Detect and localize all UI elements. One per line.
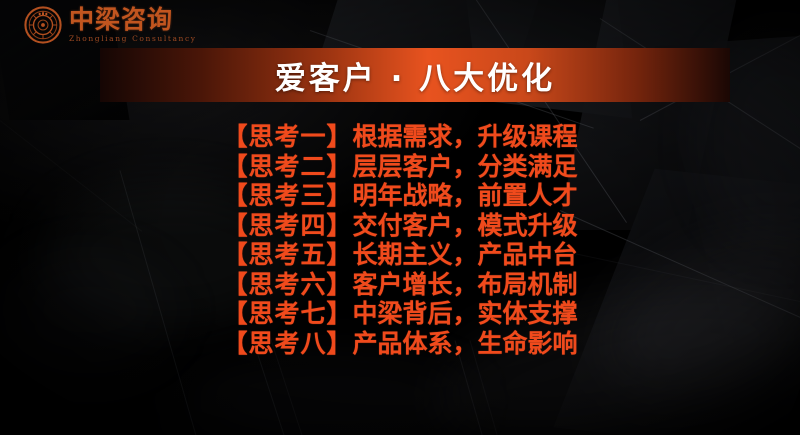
- list-item-body: 客户增长，布局机制: [353, 272, 578, 297]
- list-item-tag: 【思考一】: [222, 124, 352, 149]
- list-item-body: 交付客户，模式升级: [353, 213, 578, 238]
- list-item-tag: 【思考八】: [222, 331, 352, 356]
- list-item-tag: 【思考六】: [222, 272, 352, 297]
- list-item-tag: 【思考二】: [222, 154, 352, 179]
- circular-seal-icon: [24, 6, 62, 44]
- list-item: 【思考二】层层客户，分类满足: [222, 153, 577, 180]
- list-item: 【思考三】明年战略，前置人才: [222, 182, 577, 209]
- list-item: 【思考六】客户增长，布局机制: [222, 271, 577, 298]
- title-banner: 爱客户 · 八大优化: [100, 48, 730, 102]
- slide-title: 爱客户 · 八大优化: [100, 48, 730, 102]
- presentation-slide: 中梁咨询 Zhongliang Consultancy 爱客户 · 八大优化 【…: [0, 0, 800, 435]
- brand-logo: 中梁咨询 Zhongliang Consultancy: [24, 6, 197, 44]
- list-item-body: 根据需求，升级课程: [353, 124, 578, 149]
- list-item-body: 长期主义，产品中台: [353, 242, 578, 267]
- list-item-tag: 【思考四】: [222, 213, 352, 238]
- list-item: 【思考一】根据需求，升级课程: [222, 123, 577, 150]
- list-item-body: 产品体系，生命影响: [353, 331, 578, 356]
- brand-name-cn: 中梁咨询: [69, 7, 197, 32]
- brand-text: 中梁咨询 Zhongliang Consultancy: [69, 7, 197, 43]
- brand-name-en: Zhongliang Consultancy: [69, 35, 197, 43]
- list-item: 【思考五】长期主义，产品中台: [222, 241, 577, 268]
- list-item-body: 层层客户，分类满足: [353, 154, 578, 179]
- list-item-body: 明年战略，前置人才: [353, 183, 578, 208]
- list-item-tag: 【思考七】: [222, 301, 352, 326]
- list-item-tag: 【思考五】: [222, 242, 352, 267]
- list-item-body: 中梁背后，实体支撑: [353, 301, 578, 326]
- list-item: 【思考七】中梁背后，实体支撑: [222, 300, 577, 327]
- list-item-tag: 【思考三】: [222, 183, 352, 208]
- thinking-points-list: 【思考一】根据需求，升级课程【思考二】层层客户，分类满足【思考三】明年战略，前置…: [0, 123, 800, 359]
- list-item: 【思考四】交付客户，模式升级: [222, 212, 577, 239]
- list-item: 【思考八】产品体系，生命影响: [222, 330, 577, 357]
